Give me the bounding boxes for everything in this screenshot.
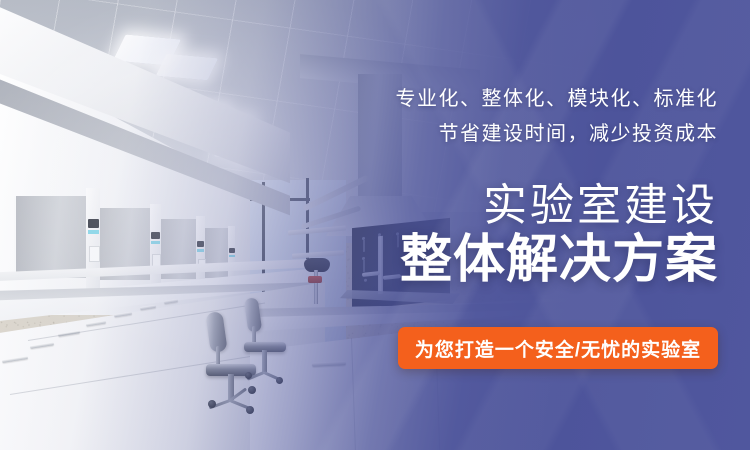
cta-button[interactable]: 为您打造一个安全/无忧的实验室: [398, 327, 718, 369]
tagline-line-1: 专业化、整体化、模块化、标准化: [396, 89, 719, 109]
headline-primary: 实验室建设: [483, 184, 718, 228]
banner-content: 专业化、整体化、模块化、标准化 节省建设时间，减少投资成本 实验室建设 整体解决…: [300, 0, 720, 450]
headline-secondary: 整体解决方案: [400, 234, 718, 286]
tagline-line-2: 节省建设时间，减少投资成本: [439, 124, 719, 144]
hero-banner: 专业化、整体化、模块化、标准化 节省建设时间，减少投资成本 实验室建设 整体解决…: [0, 0, 750, 450]
